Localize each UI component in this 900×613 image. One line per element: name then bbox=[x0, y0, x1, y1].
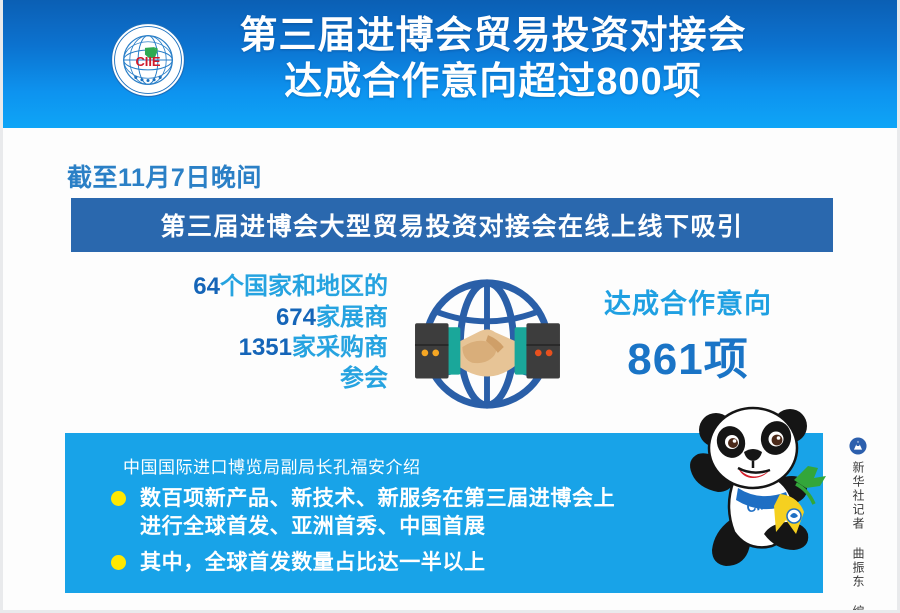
panel-subtitle: 中国国际进口博览局副局长孔福安介绍 bbox=[123, 453, 421, 478]
poster-header: CIIE 第三届进博会贸易投资对接会 达成合作意向超过800项 bbox=[3, 0, 900, 128]
stat-label-countries: 个国家和地区的 bbox=[220, 273, 388, 300]
headline-banner-text: 第三届进博会大型贸易投资对接会在线上线下吸引 bbox=[160, 207, 743, 243]
bullet-text-1: 数百项新产品、新技术、新服务在第三届进博会上 进行全球首发、亚洲首秀、中国首展 bbox=[140, 485, 615, 540]
stat-line-1: 64个国家和地区的 bbox=[123, 272, 388, 303]
bullet-text-2: 其中，全球首发数量占比达一半以上 bbox=[140, 549, 486, 577]
credit-block: 新华社记者 曲振东 编制 bbox=[841, 437, 875, 613]
poster-title-line1: 第三届进博会贸易投资对接会 bbox=[193, 13, 793, 59]
xinhua-logo-icon bbox=[849, 437, 867, 455]
stat-number-exhibitors: 674 bbox=[276, 304, 316, 331]
cooperation-value: 861项 bbox=[573, 323, 803, 387]
stat-label-attend: 参会 bbox=[340, 365, 388, 392]
stat-line-3: 1351家采购商 bbox=[123, 333, 388, 364]
stat-line-2: 674家展商 bbox=[123, 303, 388, 334]
credit-text: 新华社记者 曲振东 编制 bbox=[852, 461, 864, 613]
globe-handshake-icon bbox=[403, 274, 571, 414]
participation-stats: 64个国家和地区的 674家展商 1351家采购商 参会 bbox=[123, 272, 388, 395]
stat-number-countries: 64 bbox=[193, 273, 220, 300]
infographic-poster: CIIE 第三届进博会贸易投资对接会 达成合作意向超过800项 截至11月7日晚… bbox=[0, 0, 900, 613]
bullet-dot-icon bbox=[111, 491, 126, 506]
stat-label-exhibitors: 家展商 bbox=[316, 304, 388, 331]
poster-title-line2: 达成合作意向超过800项 bbox=[193, 59, 793, 105]
headline-banner: 第三届进博会大型贸易投资对接会在线上线下吸引 bbox=[71, 198, 833, 252]
ciie-panda-mascot: CIIE bbox=[668, 392, 838, 577]
bullet-dot-icon bbox=[111, 555, 126, 570]
ciie-logo: CIIE bbox=[110, 22, 186, 98]
stat-label-buyers: 家采购商 bbox=[292, 334, 388, 361]
poster-title: 第三届进博会贸易投资对接会 达成合作意向超过800项 bbox=[193, 13, 793, 106]
cooperation-result: 达成合作意向 861项 bbox=[573, 282, 803, 387]
dateline-text: 截至11月7日晚间 bbox=[67, 158, 262, 194]
stat-line-4: 参会 bbox=[123, 364, 388, 395]
ciie-logo-text: CIIE bbox=[135, 54, 160, 69]
cooperation-label: 达成合作意向 bbox=[573, 282, 803, 321]
stat-number-buyers: 1351 bbox=[239, 334, 292, 361]
